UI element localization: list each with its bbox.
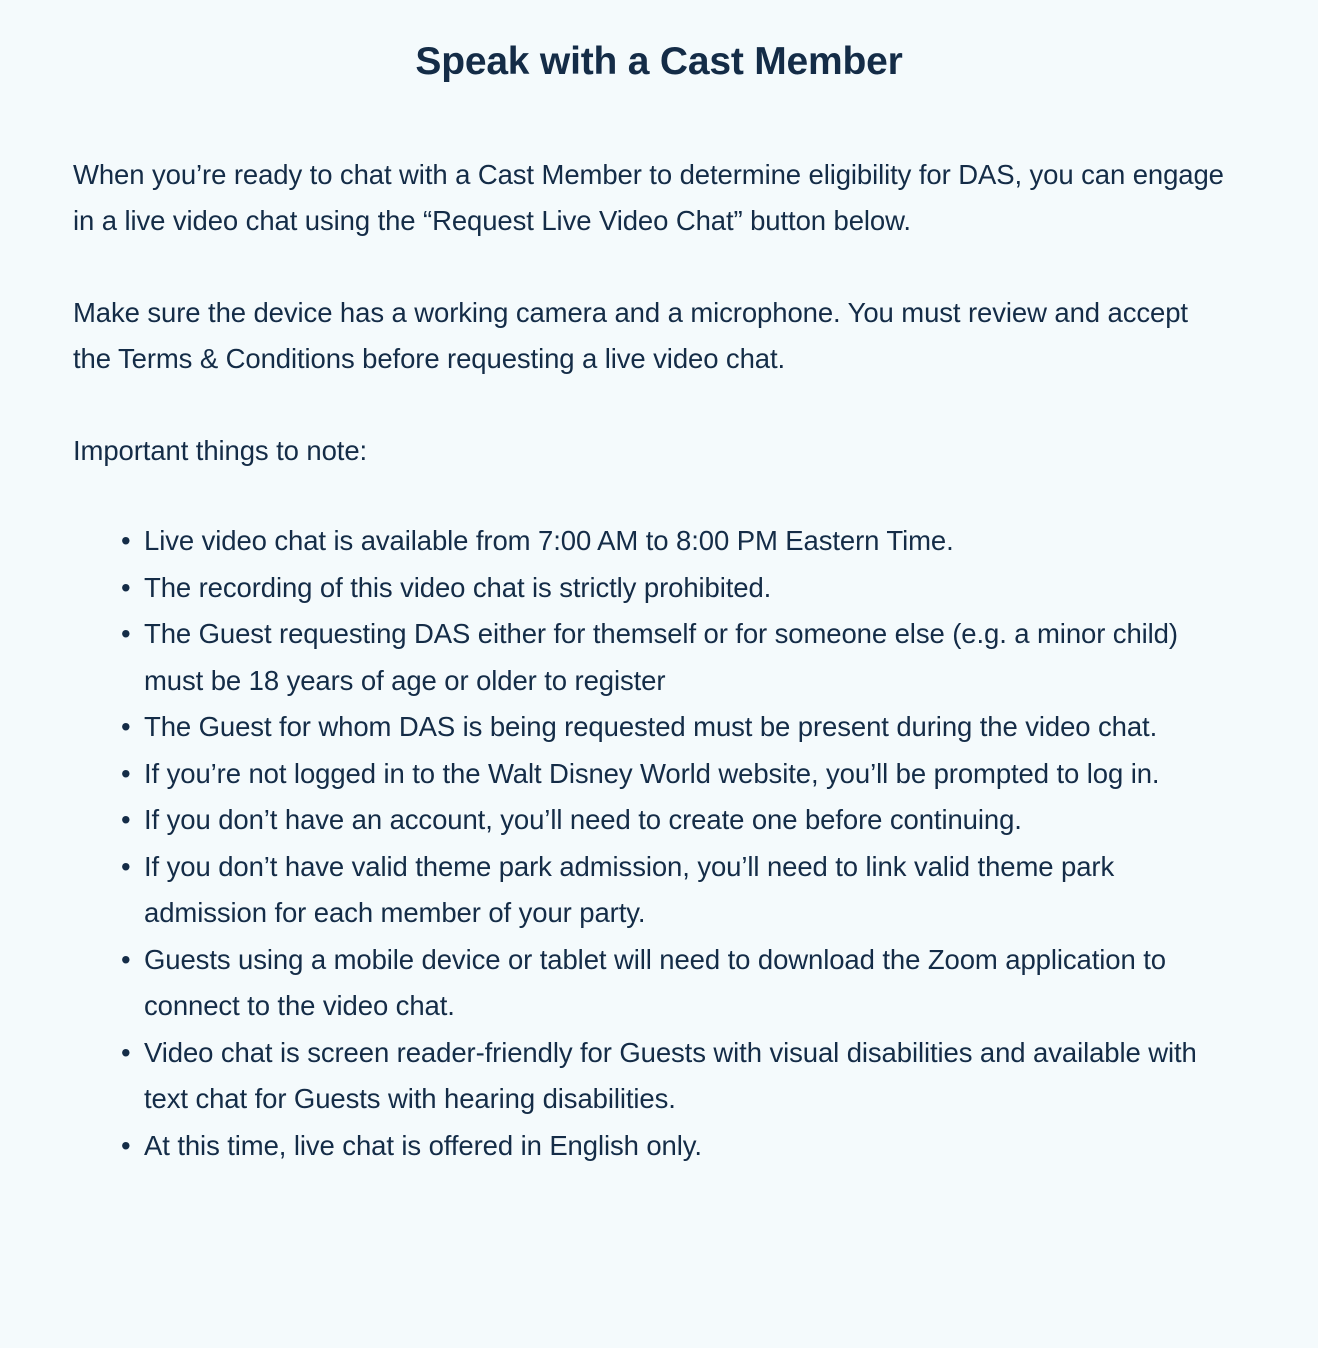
list-item-label: The Guest for whom DAS is being requeste… <box>144 704 1230 751</box>
list-item-label: If you don’t have an account, you’ll nee… <box>144 797 1230 844</box>
list-item-label: At this time, live chat is offered in En… <box>144 1123 1230 1170</box>
list-item: • The recording of this video chat is st… <box>73 565 1230 612</box>
bullet-icon: • <box>121 611 131 658</box>
body-content: When you’re ready to chat with a Cast Me… <box>0 152 1318 1169</box>
bullet-icon: • <box>121 565 131 612</box>
list-item: • Live video chat is available from 7:00… <box>73 518 1230 565</box>
bullet-icon: • <box>121 518 131 565</box>
list-item: • The Guest for whom DAS is being reques… <box>73 704 1230 751</box>
list-item-label: If you don’t have valid theme park admis… <box>144 844 1230 937</box>
bullet-icon: • <box>121 751 131 798</box>
list-item: • Video chat is screen reader-friendly f… <box>73 1030 1230 1123</box>
list-item: • If you don’t have an account, you’ll n… <box>73 797 1230 844</box>
list-item: • If you don’t have valid theme park adm… <box>73 844 1230 937</box>
bullet-icon: • <box>121 1030 131 1077</box>
list-item-label: The Guest requesting DAS either for them… <box>144 611 1230 704</box>
list-item: • If you’re not logged in to the Walt Di… <box>73 751 1230 798</box>
page-title: Speak with a Cast Member <box>0 0 1318 86</box>
das-live-chat-info-page: Speak with a Cast Member When you’re rea… <box>0 0 1318 1348</box>
bullet-icon: • <box>121 844 131 891</box>
important-notes-heading: Important things to note: <box>73 428 1230 474</box>
bullet-icon: • <box>121 1123 131 1170</box>
list-item-label: If you’re not logged in to the Walt Disn… <box>144 751 1230 798</box>
bullet-icon: • <box>121 704 131 751</box>
bullet-icon: • <box>121 797 131 844</box>
list-item: • At this time, live chat is offered in … <box>73 1123 1230 1170</box>
bullet-icon: • <box>121 937 131 984</box>
important-notes-list: • Live video chat is available from 7:00… <box>73 518 1230 1169</box>
list-item-label: Live video chat is available from 7:00 A… <box>144 518 1230 565</box>
list-item-label: Guests using a mobile device or tablet w… <box>144 937 1230 1030</box>
requirements-paragraph: Make sure the device has a working camer… <box>73 290 1230 382</box>
list-item-label: Video chat is screen reader-friendly for… <box>144 1030 1230 1123</box>
list-item: • The Guest requesting DAS either for th… <box>73 611 1230 704</box>
list-item: • Guests using a mobile device or tablet… <box>73 937 1230 1030</box>
list-item-label: The recording of this video chat is stri… <box>144 565 1230 612</box>
intro-paragraph: When you’re ready to chat with a Cast Me… <box>73 152 1230 244</box>
